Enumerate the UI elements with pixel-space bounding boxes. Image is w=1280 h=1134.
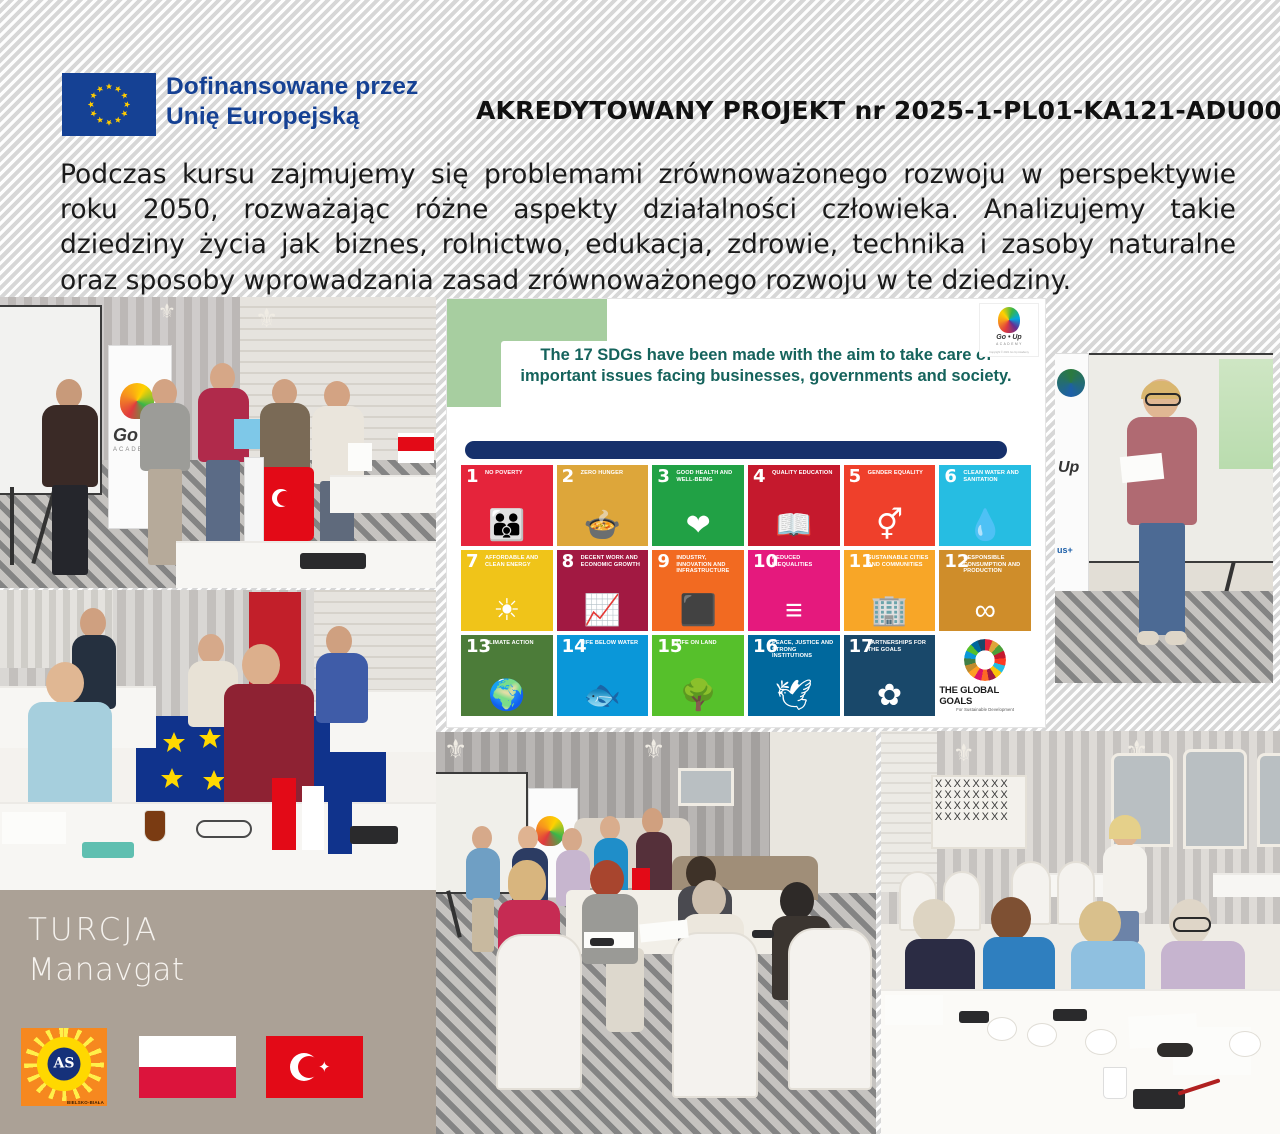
goup-subtitle: A C A D E M Y [980,342,1038,346]
sdg-glyph-icon: ⚥ [844,511,936,541]
sdg-label: Partnerships for the Goals [868,640,933,653]
sdg-tile-4: 4Quality Education📖 [748,465,840,546]
sdg-glyph-icon: 💧 [939,511,1031,541]
sdg-glyph-icon: 🌳 [652,681,744,711]
sdg-number: 2 [562,468,575,486]
project-title: AKREDYTOWANY PROJEKT nr 2025-1-PL01-KA12… [476,96,1280,125]
sdg-glyph-icon: 🌍 [461,681,553,711]
crescent-cutout [298,1056,320,1078]
photo-workshop-table: ⚜ ⚜ [436,732,876,1134]
sdg-headline: The 17 SDGs have been made with the aim … [509,345,1023,387]
sdg-tile-15: 15Life on Land🌳 [652,635,744,716]
caption-city: Manavgat [28,952,185,988]
eu-stars-icon [62,73,156,136]
goup-fineprint: Copyright © 2021 Go Up Academy [980,351,1038,354]
sdg-tile-12: 12Responsible Consumption and Production… [939,550,1031,631]
sdg-tile-11: 11Sustainable Cities and Communities🏢 [844,550,936,631]
wall-mirror [1183,749,1247,849]
chair [496,934,582,1090]
sdg-tile-8: 8Decent Work and Economic Growth📈 [557,550,649,631]
sdg-tile-2: 2Zero Hunger🍲 [557,465,649,546]
sdg-label: Life Below Water [581,640,646,647]
sdg-label: Clean Water and Sanitation [963,470,1028,483]
sdg-label: Zero Hunger [581,470,646,477]
global-goals-wheel-tile: THE GLOBAL GOALSFor Sustainable Developm… [939,635,1031,716]
sdg-label: Industry, Innovation and Infrastructure [676,555,741,575]
sdg-glyph-icon: ⬛ [652,596,744,626]
sdg-glyph-icon: 🐟 [557,681,649,711]
sdg-label: Sustainable Cities and Communities [868,555,933,568]
poland-flag-red-band [139,1067,236,1098]
as-city-label: BIELSKO-BIAŁA [67,1100,104,1105]
sdg-label: Affordable and Clean Energy [485,555,550,568]
sdg-number: 4 [753,468,766,486]
sdg-glyph-icon: ✿ [844,681,936,711]
eu-funding-line-2: Unię Europejską [166,102,418,132]
eu-funding-line-1: Dofinansowane przez [166,72,418,102]
sdg-label: Peace, Justice and Strong Institutions [772,640,837,660]
sdg-number: 7 [466,553,479,571]
sdg-tile-14: 14Life Below Water🐟 [557,635,649,716]
sdg-glyph-icon: ∞ [939,596,1031,626]
sdg-tile-6: 6Clean Water and Sanitation💧 [939,465,1031,546]
chandelier-icon: ⚜ [444,734,467,765]
sdg-tile-17: 17Partnerships for the Goals✿ [844,635,936,716]
goup-academy-logo: Go • Up A C A D E M Y Copyright © 2021 G… [979,303,1039,357]
sdg-glyph-icon: 📈 [557,596,649,626]
sdg-label: Reduced Inequalities [772,555,837,568]
sdg-goal-grid: 1No Poverty👪2Zero Hunger🍲3Good Health an… [461,465,1031,716]
sdg-number: 6 [944,468,957,486]
sdg-glyph-icon: ❤ [652,511,744,541]
slide-background: Dofinansowane przez Unię Europejską AKRE… [0,0,1280,1134]
chandelier-icon: ⚜ [953,739,975,768]
as-bielsko-biala-logo: AS BIELSKO-BIAŁA [21,1028,107,1106]
global-goals-subtitle: For Sustainable Development [956,707,1014,712]
caption-country: TURCJA [28,912,159,948]
goup-name: Go • Up [980,334,1038,341]
sdg-number: 8 [562,553,575,571]
sdg-tile-16: 16Peace, Justice and Strong Institutions… [748,635,840,716]
sdg-number: 3 [657,468,670,486]
chandelier-icon: ⚜ [255,303,278,334]
sdg-glyph-icon: ☀ [461,596,553,626]
sdg-number: 5 [849,468,862,486]
coffee-cup [1229,1031,1261,1057]
hot-air-balloon-icon [998,307,1020,333]
sdg-glyph-icon: 👪 [461,511,553,541]
photo-presenter: Up us+ [1055,353,1273,683]
sdg-glyph-icon: 🏢 [844,596,936,626]
sdg-number: 9 [657,553,670,571]
sdg-glyph-icon: ≡ [748,596,840,626]
sdg-label: Decent Work and Economic Growth [581,555,646,568]
coffee-cup [1085,1029,1117,1055]
sdg-number: 1 [466,468,479,486]
blue-accent-bar [465,441,1007,459]
eu-flag-logo [62,73,156,136]
sdg-tile-10: 10Reduced Inequalities≡ [748,550,840,631]
chair [672,932,758,1098]
turkey-flag: ✦ [266,1036,363,1098]
sdg-label: Responsible Consumption and Production [963,555,1028,575]
chandelier-icon: ⚜ [158,299,176,324]
wall-mirror [1257,753,1280,847]
as-initials: AS [48,1047,81,1080]
sdg-label: No Poverty [485,470,550,477]
chair [788,928,872,1090]
intro-paragraph: Podczas kursu zajmujemy się problemami z… [60,157,1236,298]
coffee-cup [987,1017,1017,1041]
sdg-label: Gender Equality [868,470,933,477]
sdg-label: Climate Action [485,640,550,647]
sdg-label: Life on Land [676,640,741,647]
global-goals-title: THE GLOBAL GOALS [939,685,1031,707]
star-icon: ✦ [318,1060,331,1075]
photo-opening-session: ⚜ ⚜ Go ACADEMY [0,297,436,588]
sdg-glyph-icon: 📖 [748,511,840,541]
sdg-tile-9: 9Industry, Innovation and Infrastructure… [652,550,744,631]
coffee-cup [1027,1023,1057,1047]
sdg-tile-3: 3Good Health and Well-being❤ [652,465,744,546]
photo-coffee-break: ⚜ ⚜ XXXXXXXXXXXXXXXXXXXXXXXXXXXXXXXX [881,731,1280,1134]
sdg-label: Good Health and Well-being [676,470,741,483]
sdg-wheel-icon [964,639,1006,681]
chandelier-icon: ⚜ [642,734,665,765]
sdg-label: Quality Education [772,470,837,477]
sdg-glyph-icon: 🕊 [748,681,840,711]
eu-funding-text: Dofinansowane przez Unię Europejską [166,72,418,132]
wall-mirror [678,768,734,806]
sdg-tile-5: 5Gender Equality⚥ [844,465,936,546]
photo-seated-participants [0,590,436,890]
sdg-tile-7: 7Affordable and Clean Energy☀ [461,550,553,631]
sdg-glyph-icon: 🍲 [557,511,649,541]
sdg-tile-1: 1No Poverty👪 [461,465,553,546]
sdg-tile-13: 13Climate Action🌍 [461,635,553,716]
projected-slide [1219,359,1273,469]
poland-flag [139,1036,236,1098]
sdg-poster-slide: The 17 SDGs have been made with the aim … [447,299,1045,727]
